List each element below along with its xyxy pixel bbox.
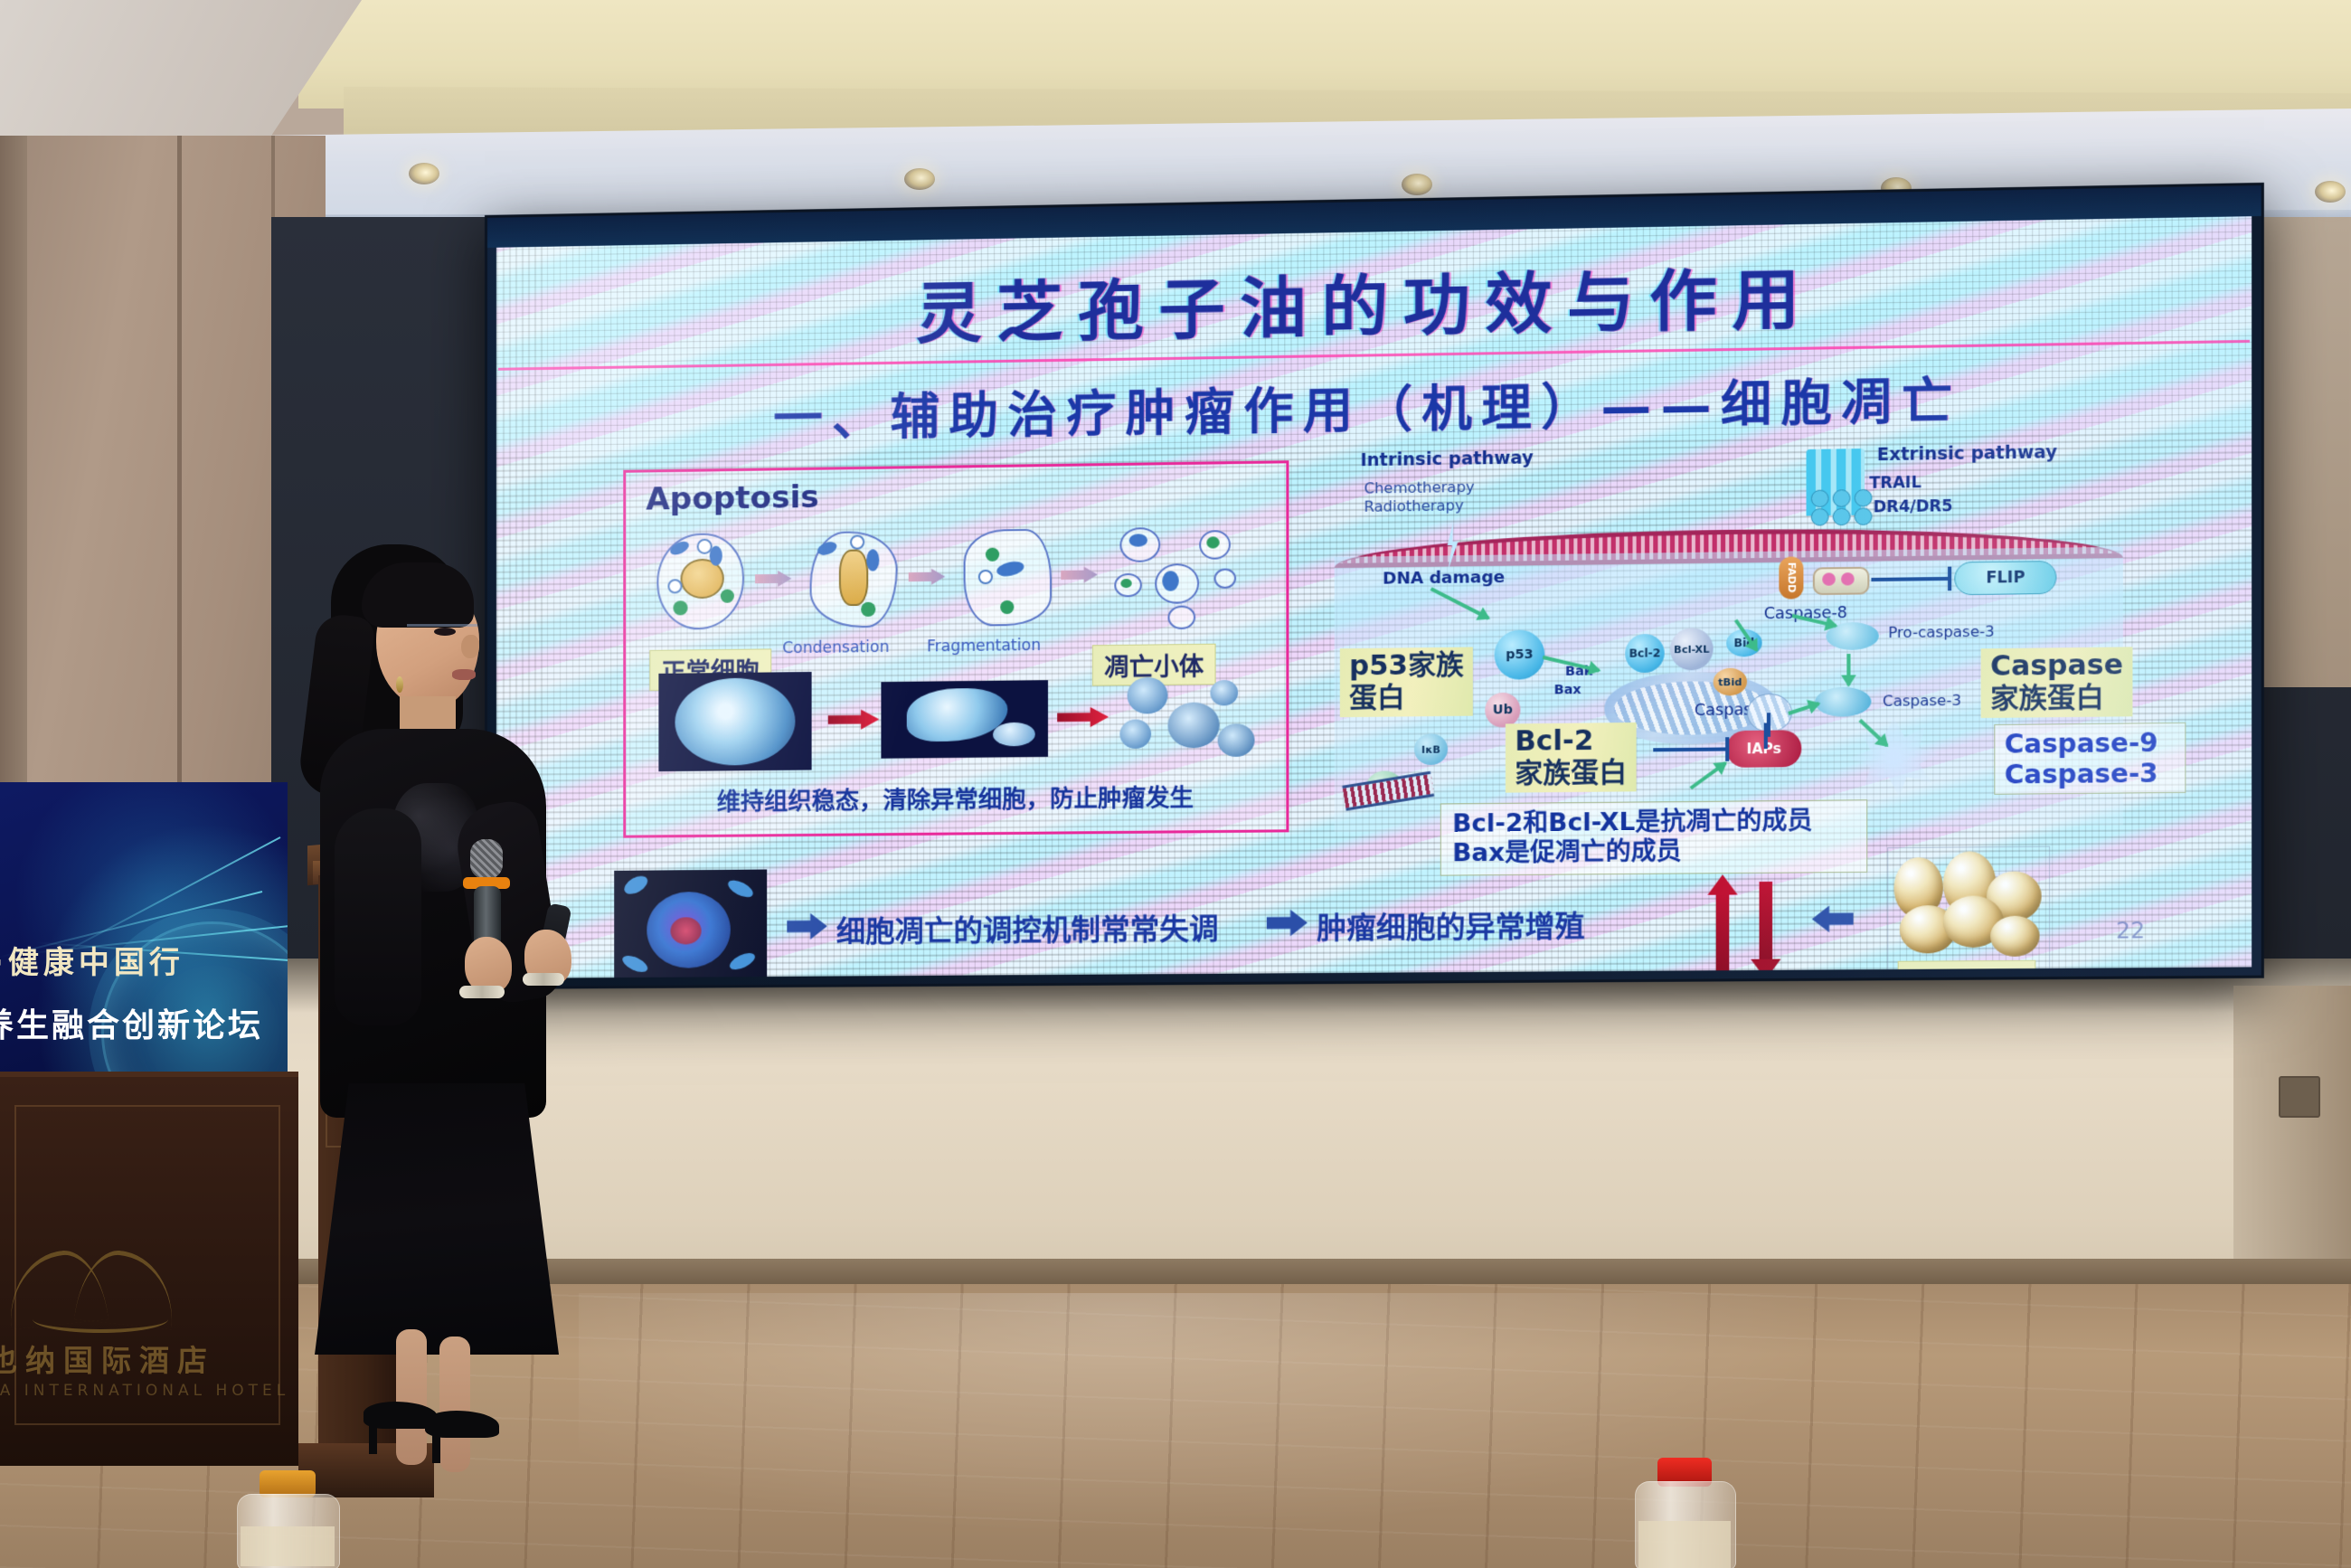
- progression-arrow-icon: [828, 709, 880, 730]
- nose: [461, 635, 479, 658]
- chip-bcl2-family: Bcl-2 家族蛋白: [1506, 723, 1637, 793]
- label-spore-oil: 灵芝孢子油: [1898, 960, 2036, 978]
- shoe-heel-left: [369, 1423, 377, 1454]
- water-bottle-right: [1635, 1458, 1734, 1568]
- spore-oil-softgel-image: 灵芝孢子油: [1887, 846, 2050, 978]
- hotel-name-cn: 也纳国际酒店: [0, 1337, 215, 1380]
- micrograph-sequence: [653, 666, 1258, 771]
- screen-display-area[interactable]: 灵芝孢子油的功效与作用 一、辅助治疗肿瘤作用（机理）——细胞凋亡 Apoptos…: [496, 216, 2252, 978]
- presenter: [298, 541, 588, 1436]
- fragment: [1167, 702, 1219, 748]
- apoptosis-stage-diagram: [647, 520, 1263, 637]
- lysosome: [1000, 600, 1014, 614]
- lysosome: [673, 600, 687, 615]
- hotel-name-en: NA INTERNATIONAL HOTEL: [0, 1382, 289, 1400]
- banner-line-2: 康养生融合创新论坛: [0, 999, 263, 1046]
- cell-stage-normal: [651, 527, 750, 636]
- tumor-pseudopod: [620, 952, 650, 976]
- iaps-inhibition: [1653, 747, 1726, 751]
- tumor-pseudopod: [727, 949, 757, 973]
- vesicle: [978, 570, 993, 584]
- bracelet: [523, 973, 564, 986]
- progression-arrow-icon: [1057, 707, 1109, 728]
- mouth: [452, 669, 476, 680]
- stage-arrow-icon: [909, 569, 946, 586]
- flow-arrow-icon: [1267, 909, 1308, 937]
- mitochondrion: [866, 549, 879, 571]
- ceiling-downlight: [1402, 174, 1432, 195]
- tumor-nucleus-glow: [670, 917, 701, 944]
- label-radiotherapy: Radiotherapy: [1364, 496, 1464, 515]
- label-dr4-dr5: DR4/DR5: [1874, 497, 1953, 517]
- label-extrinsic-pathway: Extrinsic pathway: [1877, 442, 2057, 465]
- eye: [434, 628, 456, 636]
- bottle-label: [241, 1526, 334, 1566]
- lysosome: [986, 548, 999, 562]
- conference-room-photo: 灵芝孢子油的功效与作用 一、辅助治疗肿瘤作用（机理）——细胞凋亡 Apoptos…: [0, 0, 2351, 1568]
- ub-node: Ub: [1485, 693, 1520, 728]
- vesicle: [667, 579, 682, 593]
- apoptosis-panel: Apoptosis: [623, 460, 1289, 837]
- up-down-regulation-arrows: [1704, 878, 1785, 978]
- lysosome: [861, 602, 875, 617]
- label-intrinsic-pathway: Intrinsic pathway: [1360, 448, 1533, 470]
- hair-fringe: [362, 562, 474, 628]
- wall-socket: [2279, 1076, 2320, 1118]
- flow-arrow-left-icon: [1812, 905, 1854, 933]
- flip-node: FLIP: [1954, 561, 2056, 595]
- stage-caption-condensation: Condensation: [782, 638, 889, 657]
- ceiling-downlight: [904, 168, 935, 190]
- condensed-nucleus: [839, 549, 868, 606]
- presentation-slide: 灵芝孢子油的功效与作用 一、辅助治疗肿瘤作用（机理）——细胞凋亡 Apoptos…: [496, 216, 2252, 978]
- fragment: [1210, 680, 1238, 706]
- lysosome: [721, 590, 734, 603]
- receptor-dot: [1833, 508, 1851, 526]
- logo-scroll-flourish: [33, 1306, 168, 1333]
- apoptotic-body: [1167, 605, 1195, 629]
- cell-bleb: [993, 723, 1035, 747]
- receptor-dot: [1855, 489, 1873, 507]
- softgel-capsule: [1990, 916, 2039, 957]
- cell-stage-fragmentation: [958, 524, 1057, 632]
- slide-page-number: 22: [2116, 918, 2145, 944]
- fadd-node: FADD: [1779, 556, 1803, 599]
- up-arrow-icon: [1716, 893, 1730, 973]
- tumor-pseudopod: [621, 873, 650, 898]
- tumor-cell-image: [614, 869, 767, 978]
- podium-banner: 洁·健康中国行 康养生融合创新论坛: [0, 782, 288, 1081]
- apoptosis-heading: Apoptosis: [646, 479, 818, 518]
- micrograph-condensed-cell: [881, 680, 1048, 759]
- fragment: [1218, 723, 1255, 757]
- hand-holding-microphone: [465, 937, 512, 993]
- fragment: [1119, 719, 1151, 749]
- leg-right: [439, 1337, 470, 1472]
- microphone-head: [470, 839, 503, 879]
- water-bottle-left: [237, 1470, 338, 1568]
- micrograph-apoptotic-bodies: [1110, 666, 1268, 767]
- caspase8-dimer-dot: [1841, 572, 1855, 585]
- receptor-dot: [1811, 508, 1829, 526]
- down-arrow-icon: [1760, 882, 1773, 961]
- ceiling-downlight: [2315, 181, 2346, 203]
- stage-caption-fragmentation: Fragmentation: [927, 637, 1041, 656]
- ceiling-downlight: [409, 163, 439, 184]
- apoptotic-body: [1214, 568, 1237, 589]
- eyeglasses: [407, 624, 477, 627]
- arm-left: [335, 808, 421, 1025]
- apoptosis-pathway-diagram: Intrinsic pathway Extrinsic pathway Chem…: [1325, 438, 2132, 834]
- earring: [396, 676, 403, 693]
- receptor-dot: [1855, 507, 1873, 525]
- chip-caspase-family: Caspase 家族蛋白: [1981, 647, 2133, 718]
- cell-stage-condensation: [805, 525, 903, 634]
- led-video-wall[interactable]: 灵芝孢子油的功效与作用 一、辅助治疗肿瘤作用（机理）——细胞凋亡 Apoptos…: [485, 183, 2264, 989]
- dress-skirt: [315, 1083, 559, 1355]
- caspase8-dimer-dot: [1822, 572, 1836, 585]
- vesicle: [697, 539, 713, 554]
- bottle-label: [1638, 1521, 1730, 1568]
- ikb-node: IκB: [1414, 733, 1448, 765]
- hotel-logo: [7, 1246, 197, 1333]
- iaps-inhibition-vertical: [1764, 723, 1768, 750]
- flow-step-1: 细胞凋亡的调控机制常常失调: [836, 906, 1219, 950]
- label-bax: Bax: [1554, 683, 1581, 698]
- fragment: [1128, 677, 1168, 714]
- shoe-heel-right: [432, 1432, 440, 1463]
- stage-arrow-icon: [755, 571, 791, 588]
- vesicle: [850, 534, 864, 549]
- bracelet: [459, 986, 505, 998]
- leg-left: [396, 1329, 427, 1465]
- apoptosis-caption: 维持组织稳态，清除异常细胞，防止肿瘤发生: [626, 779, 1286, 818]
- tumor-flow-row: 肿瘤细胞 细胞凋亡的调控机制常常失调 肿瘤细胞的异常增殖: [614, 858, 2195, 978]
- label-caspase3: Caspase-3: [1883, 692, 1961, 710]
- cell-mass: [675, 677, 795, 766]
- label-trail: TRAIL: [1869, 474, 1921, 493]
- wall-right-lower: [2233, 986, 2351, 1266]
- apoptotic-body: [1162, 571, 1178, 590]
- chip-p53-family: p53家族 蛋白: [1340, 647, 1473, 718]
- cell-stage-apoptotic-bodies: [1110, 520, 1266, 629]
- micrograph-normal-cell: [658, 672, 811, 771]
- label-dna-damage: DNA damage: [1383, 568, 1505, 589]
- stage-arrow-icon: [1061, 566, 1098, 583]
- banner-line-1: 洁·健康中国行: [0, 938, 184, 982]
- label-chemotherapy: Chemotherapy: [1364, 478, 1475, 497]
- tumor-pseudopod: [725, 877, 755, 901]
- label-pro-caspase3: Pro-caspase-3: [1888, 622, 1995, 641]
- flow-step-2: 肿瘤细胞的异常增殖: [1317, 903, 1585, 948]
- callout-caspase-list: Caspase-9 Caspase-3: [1994, 723, 2186, 795]
- pathway-arrow: [1846, 654, 1850, 685]
- flow-arrow-icon: [787, 912, 826, 940]
